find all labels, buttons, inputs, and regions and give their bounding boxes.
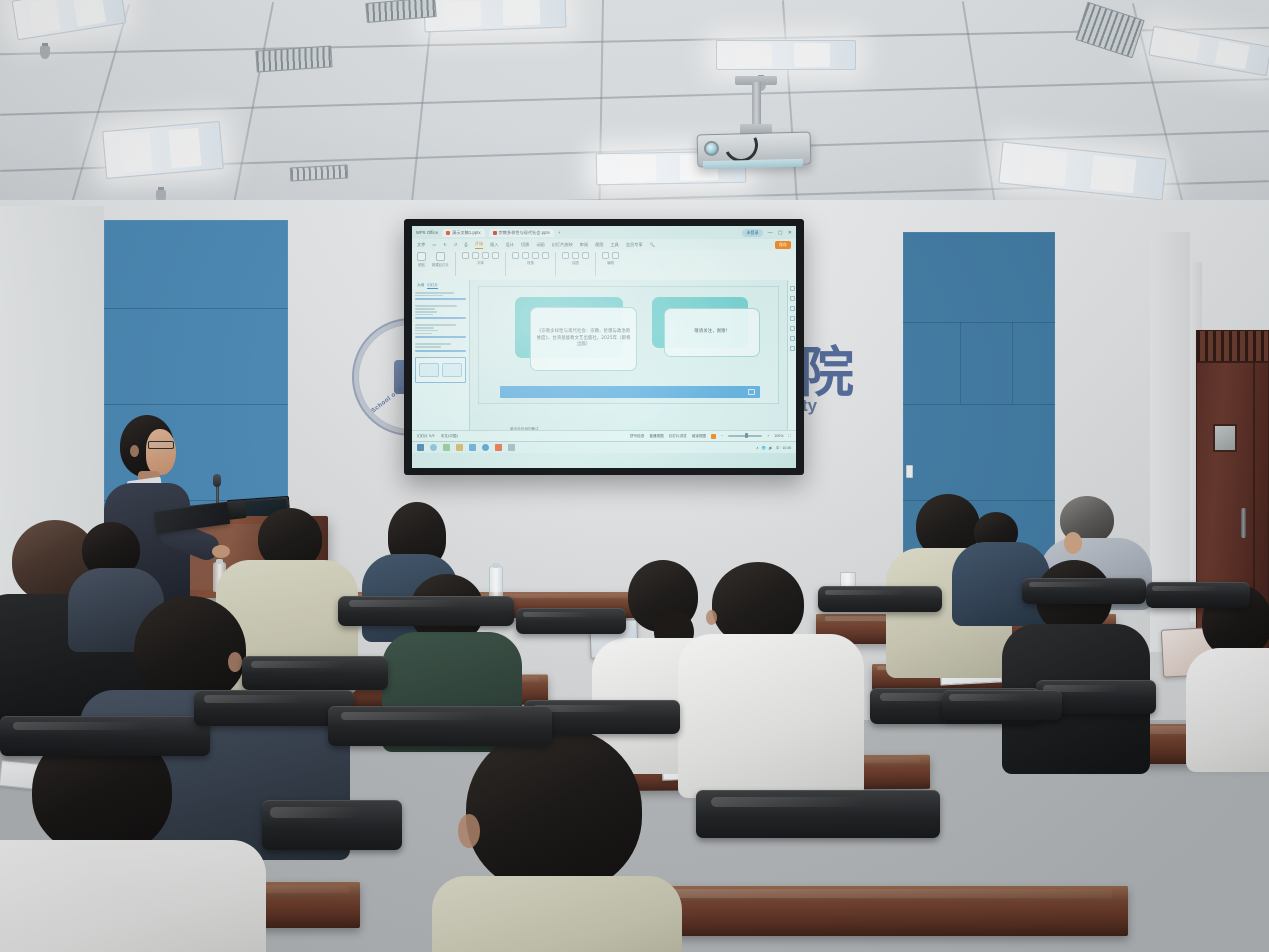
system-tray[interactable]: ∧ 🌐 🔊 中 10:45 (756, 445, 791, 450)
outline-entry[interactable] (415, 324, 466, 338)
menu-insert[interactable]: 插入 (490, 242, 498, 248)
eyeglasses (148, 441, 174, 449)
ceiling (0, 0, 1269, 232)
lecture-hall-photo: School of Public Administration 院 ty WPS… (0, 0, 1269, 952)
menu-tools[interactable]: 工具 (610, 242, 618, 248)
wps-titlebar: WPS Office 演示文稿1.pptx 宗教多样性与现代社会.pptx + … (412, 226, 796, 239)
ribbon-group-paragraph[interactable]: 段落 (512, 252, 549, 265)
bullet-list-icon[interactable] (542, 252, 549, 259)
redo-icon[interactable]: ↺ (454, 242, 458, 247)
ribbon-label-newslide: 新建幻灯片 (432, 262, 449, 267)
chair (0, 716, 210, 756)
left-card[interactable]: 《宗教多样性与现代社会：宗教、伦理与政治的维度》，台湾基督教文艺出版社，2025… (530, 307, 638, 371)
animation-panel-icon[interactable] (790, 336, 795, 341)
windows-taskbar: ∧ 🌐 🔊 中 10:45 (412, 441, 796, 453)
chair (696, 790, 940, 838)
document-tab-active[interactable]: 宗教多样性与现代社会.pptx (489, 229, 554, 237)
undo-icon[interactable]: ↻ (443, 242, 447, 247)
zoom-slider-knob[interactable] (745, 433, 748, 438)
chair (328, 706, 552, 746)
ceiling-light (998, 141, 1166, 200)
current-slide[interactable]: 《宗教多样性与现代社会：宗教、伦理与政治的维度》，台湾基督教文艺出版社，2025… (478, 286, 779, 404)
audience-ear (458, 814, 480, 848)
menu-review[interactable]: 审阅 (580, 242, 588, 248)
ceiling-light (423, 0, 566, 32)
projected-desktop: WPS Office 演示文稿1.pptx 宗教多样性与现代社会.pptx + … (412, 226, 796, 468)
outline-entry-selected[interactable] (415, 357, 466, 383)
slide-editing-area[interactable]: 《宗教多样性与现代社会：宗教、伦理与政治的维度》，台湾基督教文艺出版社，2025… (470, 280, 787, 430)
ceiling-light (716, 40, 856, 70)
projection-screen: WPS Office 演示文稿1.pptx 宗教多样性与现代社会.pptx + … (404, 219, 804, 475)
arrange-icon[interactable] (572, 252, 579, 259)
image-panel-icon[interactable] (790, 306, 795, 311)
audience-hand (1064, 532, 1082, 554)
chair (1146, 582, 1250, 608)
menu-view[interactable]: 视图 (595, 242, 603, 248)
view-reading-button[interactable]: 阅读视图 (692, 434, 706, 439)
zoom-out-button[interactable]: − (721, 434, 723, 438)
window-controls: 未登录 — ▢ ✕ (742, 229, 792, 237)
align-left-icon[interactable] (512, 252, 519, 259)
new-tab-button[interactable]: + (558, 230, 561, 235)
chair (262, 800, 402, 850)
audience-torso (0, 840, 266, 952)
language-indicator[interactable]: 中文(中国) (441, 434, 458, 439)
wps-statusbar: 幻灯片 5/5 中文(中国) 拼写检查 普通视图 幻灯片浏览 阅读视图 − + … (412, 430, 796, 441)
save-icon[interactable]: ▭ (432, 242, 436, 247)
replace-icon[interactable] (612, 252, 619, 259)
font-underline-icon[interactable] (482, 252, 489, 259)
wps-ribbon: 粘贴 新建幻灯片 字体 (412, 250, 796, 280)
slide-indicator: 幻灯片 5/5 (417, 434, 435, 439)
menu-transition[interactable]: 切换 (521, 242, 529, 248)
view-normal-button[interactable]: 普通视图 (649, 434, 663, 439)
audience-torso (432, 876, 682, 952)
network-icon[interactable]: 🌐 (762, 446, 766, 450)
ribbon-group-drawing[interactable]: 绘图 (562, 252, 589, 265)
ribbon-group-newslide[interactable]: 新建幻灯片 (432, 252, 449, 267)
more-apps-icon[interactable] (508, 444, 515, 451)
align-right-icon[interactable] (532, 252, 539, 259)
close-button[interactable]: ✕ (788, 230, 792, 236)
menu-file[interactable]: 文件 (417, 242, 425, 248)
chair (1022, 578, 1146, 604)
shape-panel-icon[interactable] (790, 296, 795, 301)
new-slide-icon[interactable] (436, 252, 445, 261)
ribbon-label-font: 字体 (477, 260, 484, 265)
chair (516, 608, 626, 634)
account-status[interactable]: 未登录 (742, 229, 762, 237)
right-card[interactable]: 敬请关注，谢谢！ (664, 308, 760, 357)
zoom-slider[interactable] (728, 435, 762, 437)
ppt-file-icon (493, 231, 497, 235)
air-vent (255, 45, 332, 72)
thumb-card-right (442, 363, 462, 377)
maximize-button[interactable]: ▢ (778, 230, 783, 236)
chair (942, 690, 1062, 720)
fit-to-window-button[interactable]: ⛶ (788, 434, 791, 438)
font-italic-icon[interactable] (472, 252, 479, 259)
shapes-icon[interactable] (562, 252, 569, 259)
wps-home-label[interactable]: WPS Office (416, 230, 438, 235)
document-tab-label-active: 宗教多样性与现代社会.pptx (499, 230, 550, 236)
task-view-icon[interactable] (443, 444, 450, 451)
ribbon-group-paste[interactable]: 粘贴 (417, 252, 426, 267)
ribbon-label-editing: 编辑 (607, 260, 614, 265)
chair (818, 586, 942, 612)
paste-icon[interactable] (417, 252, 426, 261)
start-slideshow-button[interactable] (711, 434, 716, 439)
air-vent (290, 164, 349, 181)
tab-slides[interactable]: 幻灯片 (427, 283, 438, 289)
ribbon-label-paragraph: 段落 (527, 260, 534, 265)
zoom-level-label: 100% (774, 434, 783, 438)
audience-head (466, 726, 642, 894)
document-tab-label: 演示文稿1.pptx (452, 230, 481, 236)
font-strike-icon[interactable] (492, 252, 499, 259)
audience-torso (678, 634, 864, 798)
zoom-in-button[interactable]: + (767, 434, 769, 438)
start-menu-icon[interactable] (417, 444, 424, 451)
minimize-button[interactable]: — (768, 230, 773, 236)
menu-slideshow[interactable]: 幻灯片放映 (552, 242, 573, 248)
ribbon-label-paste: 粘贴 (418, 262, 425, 267)
slide-footer-bar[interactable] (500, 386, 760, 398)
chart-panel-icon[interactable] (790, 316, 795, 321)
outline-entry[interactable] (415, 343, 466, 351)
menu-home[interactable]: 开始 (475, 241, 483, 249)
align-center-icon[interactable] (522, 252, 529, 259)
ppt-file-icon (446, 231, 450, 235)
ceiling-light (12, 0, 127, 40)
search-taskbar-icon[interactable] (430, 444, 437, 451)
audience-torso (1186, 648, 1269, 772)
ribbon-group-font[interactable]: 字体 (462, 252, 499, 265)
audience-member (6, 726, 266, 952)
wps-taskbar-icon[interactable] (495, 444, 502, 451)
audience-ear (706, 610, 717, 625)
browser-icon[interactable] (482, 444, 489, 451)
wps-workspace: 大纲 幻灯片 (412, 280, 796, 430)
save-button[interactable]: 保存 (775, 241, 791, 249)
institution-name-cn: 院 (800, 346, 854, 400)
search-icon[interactable]: 🔍 (650, 242, 655, 248)
volume-icon[interactable]: 🔊 (769, 446, 773, 450)
presenter-face (146, 429, 176, 475)
audience-member (452, 726, 682, 952)
ribbon-group-editing[interactable]: 编辑 (602, 252, 619, 265)
outline-entry[interactable] (415, 305, 466, 319)
spellcheck-status[interactable]: 拼写检查 (630, 434, 644, 439)
design-ideas-icon[interactable] (790, 286, 795, 291)
text-panel-icon[interactable] (790, 326, 795, 331)
slide-outline-pane[interactable]: 大纲 幻灯片 (412, 280, 470, 430)
document-tab[interactable]: 演示文稿1.pptx (442, 229, 485, 237)
audience-member (1196, 584, 1269, 764)
wall-switch[interactable] (906, 465, 913, 478)
chair (242, 656, 388, 690)
clock-label[interactable]: 10:45 (783, 446, 792, 450)
outline-entry[interactable] (415, 292, 466, 300)
tab-outline[interactable]: 大纲 (417, 283, 424, 289)
font-bold-icon[interactable] (462, 252, 469, 259)
find-icon[interactable] (602, 252, 609, 259)
chair (338, 596, 514, 626)
menu-member[interactable]: 会员专享 (626, 242, 643, 248)
mail-icon[interactable] (469, 444, 476, 451)
file-explorer-icon[interactable] (456, 444, 463, 451)
tray-expand-icon[interactable]: ∧ (756, 446, 758, 450)
audience-ear (228, 652, 242, 672)
ime-icon[interactable]: 中 (776, 445, 779, 450)
wps-menubar: 文件 ▭ ↻ ↺ ⎙ 开始 插入 设计 切换 动画 幻灯片放映 审阅 视图 工具… (412, 239, 796, 250)
ribbon-label-drawing: 绘图 (572, 260, 579, 265)
print-icon[interactable]: ⎙ (464, 242, 467, 247)
institution-name-en: ty (802, 396, 817, 416)
menu-design[interactable]: 设计 (506, 242, 514, 248)
thumb-card-left (419, 363, 439, 377)
audience-head (134, 596, 246, 704)
presenter-ear (130, 445, 139, 457)
quick-style-icon[interactable] (582, 252, 589, 259)
sprinkler-head (40, 46, 50, 59)
ceiling-light (1148, 26, 1269, 76)
resource-panel-icon[interactable] (790, 346, 795, 351)
slide-right-toolbar[interactable] (787, 280, 796, 430)
footer-badge-icon (748, 389, 755, 395)
ceiling-light (102, 121, 224, 179)
menu-animation[interactable]: 动画 (536, 242, 544, 248)
outline-pane-tabs: 大纲 幻灯片 (415, 283, 466, 289)
view-sorter-button[interactable]: 幻灯片浏览 (669, 434, 687, 439)
